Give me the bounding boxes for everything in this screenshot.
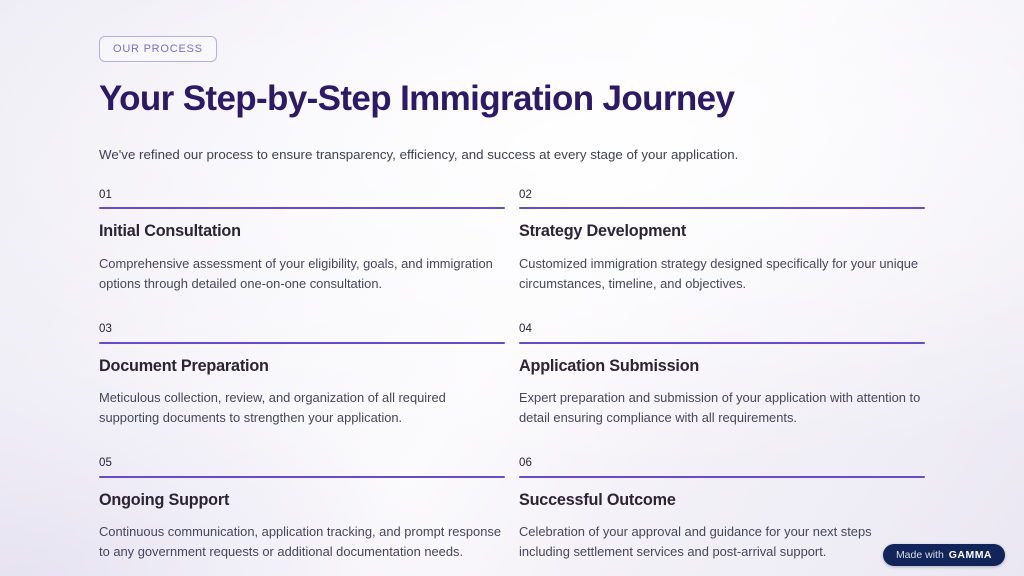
- gamma-wordmark: GAMMA: [949, 550, 992, 561]
- made-with-gamma-badge[interactable]: Made with GAMMA: [883, 544, 1005, 566]
- step-description: Celebration of your approval and guidanc…: [519, 522, 923, 562]
- process-step-01: 01 Initial Consultation Comprehensive as…: [99, 190, 505, 294]
- step-number: 02: [519, 190, 925, 208]
- step-description: Comprehensive assessment of your eligibi…: [99, 254, 503, 294]
- step-title: Ongoing Support: [99, 491, 505, 510]
- process-step-05: 05 Ongoing Support Continuous communicat…: [99, 458, 505, 562]
- process-step-03: 03 Document Preparation Meticulous colle…: [99, 324, 505, 428]
- process-step-02: 02 Strategy Development Customized immig…: [519, 190, 925, 294]
- step-number: 04: [519, 324, 925, 342]
- page-subtitle: We've refined our process to ensure tran…: [99, 145, 925, 165]
- section-eyebrow-badge: OUR PROCESS: [99, 36, 217, 62]
- step-divider-rule: [519, 342, 925, 344]
- page-title: Your Step-by-Step Immigration Journey: [99, 79, 925, 119]
- step-divider-rule: [99, 342, 505, 344]
- step-description: Continuous communication, application tr…: [99, 522, 503, 562]
- process-step-06: 06 Successful Outcome Celebration of you…: [519, 458, 925, 562]
- step-title: Initial Consultation: [99, 222, 505, 241]
- slide-canvas: OUR PROCESS Your Step-by-Step Immigratio…: [0, 0, 1024, 576]
- step-title: Document Preparation: [99, 357, 505, 376]
- step-title: Successful Outcome: [519, 491, 925, 510]
- step-description: Meticulous collection, review, and organ…: [99, 388, 503, 428]
- step-divider-rule: [99, 207, 505, 209]
- step-divider-rule: [519, 207, 925, 209]
- step-title: Strategy Development: [519, 222, 925, 241]
- step-number: 05: [99, 458, 505, 476]
- made-with-label: Made with: [896, 550, 944, 561]
- process-step-04: 04 Application Submission Expert prepara…: [519, 324, 925, 428]
- step-number: 03: [99, 324, 505, 342]
- step-number: 01: [99, 190, 505, 208]
- step-divider-rule: [519, 476, 925, 478]
- step-divider-rule: [99, 476, 505, 478]
- step-number: 06: [519, 458, 925, 476]
- step-description: Customized immigration strategy designed…: [519, 254, 923, 294]
- process-steps-grid: 01 Initial Consultation Comprehensive as…: [99, 190, 925, 563]
- slide-content: OUR PROCESS Your Step-by-Step Immigratio…: [99, 0, 925, 562]
- step-title: Application Submission: [519, 357, 925, 376]
- step-description: Expert preparation and submission of you…: [519, 388, 923, 428]
